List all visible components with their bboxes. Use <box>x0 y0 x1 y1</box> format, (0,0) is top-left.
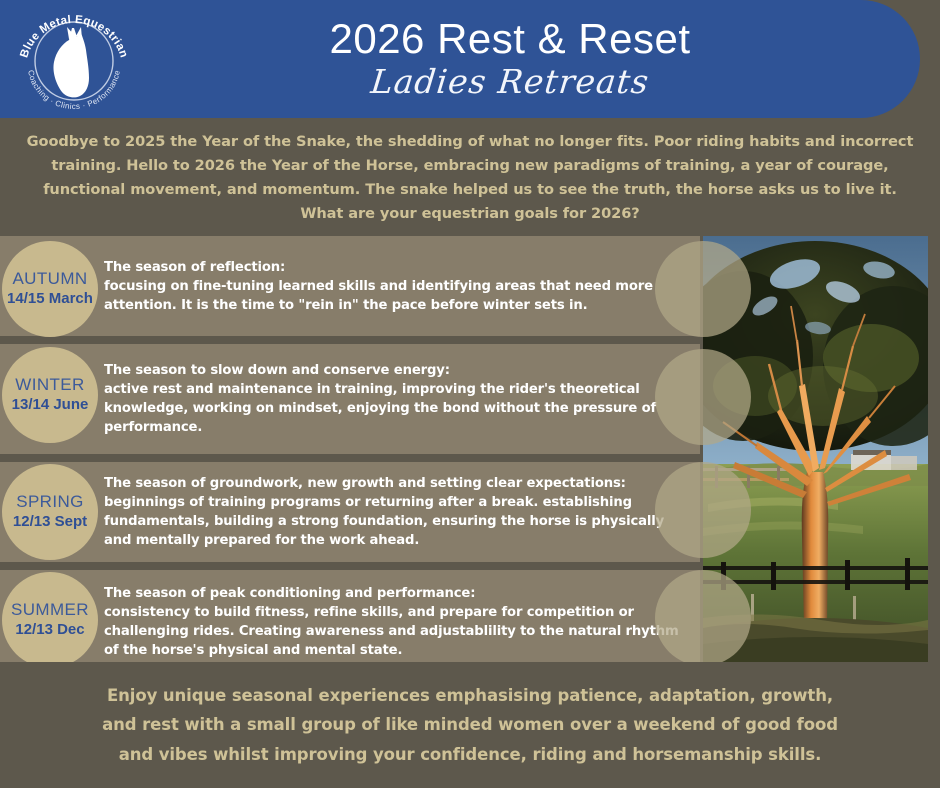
footer-paragraph: Enjoy unique seasonal experiences emphas… <box>90 681 850 769</box>
page-title: 2026 Rest & Reset <box>329 17 690 61</box>
season-lead: The season of reflection: <box>104 258 686 277</box>
intro-question: What are your equestrian goals for 2026? <box>17 202 923 226</box>
season-name: WINTER <box>15 376 84 395</box>
horse-head-icon <box>53 27 89 97</box>
season-name: AUTUMN <box>12 270 87 289</box>
season-badge-spring: SPRING 12/13 Sept <box>2 464 98 560</box>
season-lead: The season to slow down and conserve ene… <box>104 361 686 380</box>
season-row-autumn: The season of reflection: focusing on fi… <box>0 236 700 336</box>
season-name: SUMMER <box>11 601 89 620</box>
season-list: The season of reflection: focusing on fi… <box>0 236 700 662</box>
footer-block: Enjoy unique seasonal experiences emphas… <box>0 662 940 788</box>
season-description-summer: The season of peak conditioning and perf… <box>104 584 686 660</box>
season-row-summer: The season of peak conditioning and perf… <box>0 570 700 674</box>
intro-block: Goodbye to 2025 the Year of the Snake, t… <box>0 124 940 232</box>
season-body: beginnings of training programs or retur… <box>104 493 686 550</box>
season-date: 13/14 June <box>12 396 89 414</box>
page-subtitle: Ladies Retreats <box>369 63 651 101</box>
header-banner: 2026 Rest & Reset Ladies Retreats <box>0 0 920 118</box>
brand-logo: Blue Metal Equestrian Coaching · Clinics… <box>12 6 136 112</box>
header-titles: 2026 Rest & Reset Ladies Retreats <box>140 0 880 118</box>
season-lead: The season of peak conditioning and perf… <box>104 584 686 603</box>
retreat-poster: 2026 Rest & Reset Ladies Retreats Blue M… <box>0 0 940 788</box>
season-description-spring: The season of groundwork, new growth and… <box>104 474 686 550</box>
intro-paragraph: Goodbye to 2025 the Year of the Snake, t… <box>17 130 923 201</box>
season-date: 12/13 Dec <box>15 621 84 639</box>
paddock-tree-photo <box>703 236 928 662</box>
season-body: focusing on fine-tuning learned skills a… <box>104 277 686 315</box>
season-badge-summer: SUMMER 12/13 Dec <box>2 572 98 668</box>
season-name: SPRING <box>16 493 84 512</box>
season-description-autumn: The season of reflection: focusing on fi… <box>104 258 686 315</box>
season-badge-autumn: AUTUMN 14/15 March <box>2 241 98 337</box>
season-date: 12/13 Sept <box>13 513 87 531</box>
season-body: active rest and maintenance in training,… <box>104 380 686 437</box>
season-body: consistency to build fitness, refine ski… <box>104 603 686 660</box>
season-badge-winter: WINTER 13/14 June <box>2 347 98 443</box>
season-lead: The season of groundwork, new growth and… <box>104 474 686 493</box>
season-row-winter: The season to slow down and conserve ene… <box>0 344 700 454</box>
season-row-spring: The season of groundwork, new growth and… <box>0 462 700 562</box>
season-description-winter: The season to slow down and conserve ene… <box>104 361 686 437</box>
season-date: 14/15 March <box>7 290 93 308</box>
